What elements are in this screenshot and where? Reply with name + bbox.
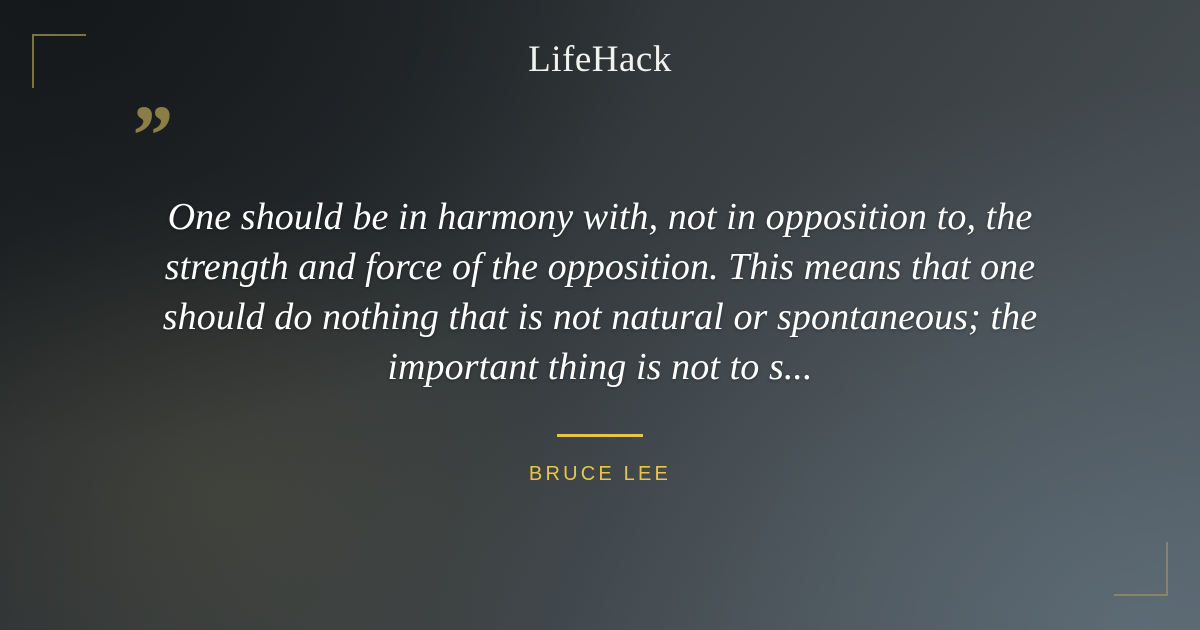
corner-bracket-bottom-right-icon xyxy=(1114,542,1168,596)
author-name: BRUCE LEE xyxy=(0,463,1200,486)
quote-card: LifeHack ” One should be in harmony with… xyxy=(0,0,1200,630)
divider xyxy=(557,434,643,437)
brand-logo: LifeHack xyxy=(0,40,1200,81)
quote-text: One should be in harmony with, not in op… xyxy=(110,192,1090,392)
quote-mark-icon: ” xyxy=(128,92,171,178)
